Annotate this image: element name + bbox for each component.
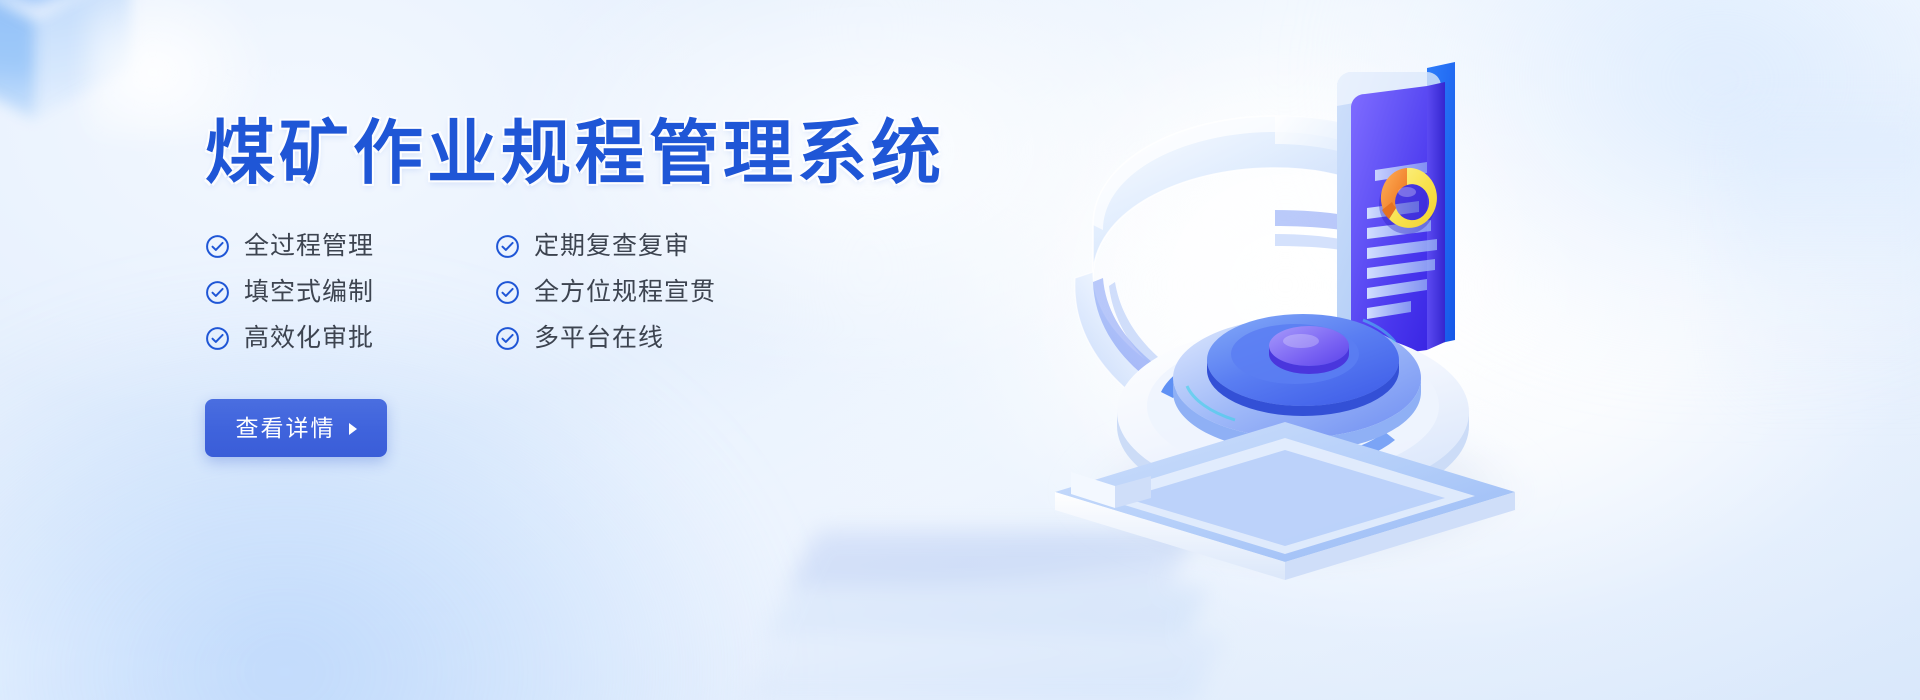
base-top-face — [1055, 422, 1515, 562]
base-inner-tile — [1125, 450, 1445, 546]
ribbon-descending-tail — [1075, 272, 1195, 424]
platform-accent-arc-left — [1161, 350, 1231, 398]
platform-outer-plate-edge — [1117, 412, 1469, 512]
check-circle-icon — [495, 234, 520, 259]
base-corner-block-side — [1115, 476, 1151, 508]
platform-inner-disc-edge — [1207, 360, 1399, 416]
decorative-right-panel — [1730, 120, 1920, 420]
ribbon-tail-cap — [1181, 392, 1221, 434]
feature-list: 全过程管理 定期复查复审 填空式编制 — [205, 234, 765, 351]
feature-label: 全过程管理 — [244, 234, 374, 259]
view-details-button[interactable]: 查看详情 — [205, 399, 387, 457]
card-back-highlight — [1337, 72, 1427, 106]
ribbon-upper-highlight — [1093, 116, 1423, 230]
illustration-ground-shadow — [1055, 398, 1555, 580]
check-circle-icon — [205, 326, 230, 351]
ribbon-tail-shade — [1093, 278, 1199, 406]
cube-left-face — [0, 0, 36, 120]
base-left-side — [1055, 492, 1285, 580]
platform-outer-plate — [1117, 326, 1469, 498]
platform-inner-disc — [1207, 314, 1399, 406]
card-spine-edge — [1427, 62, 1455, 346]
circular-platform — [1117, 314, 1469, 512]
view-details-label: 查看详情 — [236, 417, 336, 440]
plinth-slab-middle — [765, 586, 1210, 638]
page-title: 煤矿作业规程管理系统 — [205, 118, 965, 188]
base-right-side — [1285, 492, 1515, 580]
platform-center-knob-edge — [1269, 346, 1349, 374]
platform-accent-arc-right — [1325, 432, 1395, 468]
donut-segment-yellow — [1389, 168, 1437, 228]
platform-center-knob — [1269, 326, 1349, 366]
feature-label: 填空式编制 — [244, 280, 374, 305]
feature-item: 全方位规程宣贯 — [495, 280, 765, 305]
check-circle-icon — [205, 234, 230, 259]
card-face — [1351, 86, 1427, 360]
check-circle-icon — [495, 326, 520, 351]
glass-ribbon — [1075, 116, 1445, 434]
platform-rim-light — [1187, 386, 1235, 420]
hero-banner: 煤矿作业规程管理系统 全过程管理 定期复查复审 — [0, 0, 1920, 700]
feature-item: 全过程管理 — [205, 234, 495, 259]
base-inner-recess — [1095, 438, 1475, 554]
platform-groove — [1147, 336, 1439, 476]
ribbon-right-band — [1275, 116, 1445, 328]
platform-mid-ring — [1173, 318, 1421, 438]
background-glow-top-right — [1340, 0, 1920, 360]
feature-label: 全方位规程宣贯 — [534, 280, 716, 305]
feature-label: 多平台在线 — [534, 326, 664, 351]
ribbon-tail-stripe — [1109, 282, 1207, 400]
feature-label: 高效化审批 — [244, 326, 374, 351]
square-base — [1051, 342, 1535, 580]
chevron-right-icon — [349, 423, 357, 435]
feature-item: 高效化审批 — [205, 326, 495, 351]
donut-chart — [1379, 168, 1437, 234]
check-circle-icon — [495, 280, 520, 305]
ribbon-mid-band — [1275, 210, 1431, 328]
feature-item: 填空式编制 — [205, 280, 495, 305]
check-circle-icon — [205, 280, 230, 305]
illustration-svg — [975, 20, 1575, 580]
document-card — [1337, 62, 1455, 360]
feature-label: 定期复查复审 — [534, 234, 690, 259]
card-side-face — [1427, 82, 1445, 350]
plinth-slab-top — [783, 530, 1196, 598]
ribbon-mid-stripe — [1275, 234, 1405, 316]
ribbon-upper-band — [1093, 116, 1423, 277]
base-corner-block-top — [1071, 472, 1115, 508]
plinth-slab-bottom — [743, 634, 1227, 700]
hero-illustration — [975, 20, 1575, 580]
platform-mid-ring-edge — [1173, 378, 1421, 452]
decorative-plinth-shape — [760, 530, 1230, 700]
donut-segment-orange — [1381, 168, 1407, 219]
feature-item: 定期复查复审 — [495, 234, 765, 259]
card-text-lines — [1367, 162, 1437, 319]
banner-content: 煤矿作业规程管理系统 全过程管理 定期复查复审 — [205, 118, 965, 457]
illustration-backlight — [1015, 50, 1535, 540]
feature-item: 多平台在线 — [495, 326, 765, 351]
card-back-plate — [1337, 72, 1441, 348]
platform-inner-ring-2 — [1231, 324, 1359, 384]
